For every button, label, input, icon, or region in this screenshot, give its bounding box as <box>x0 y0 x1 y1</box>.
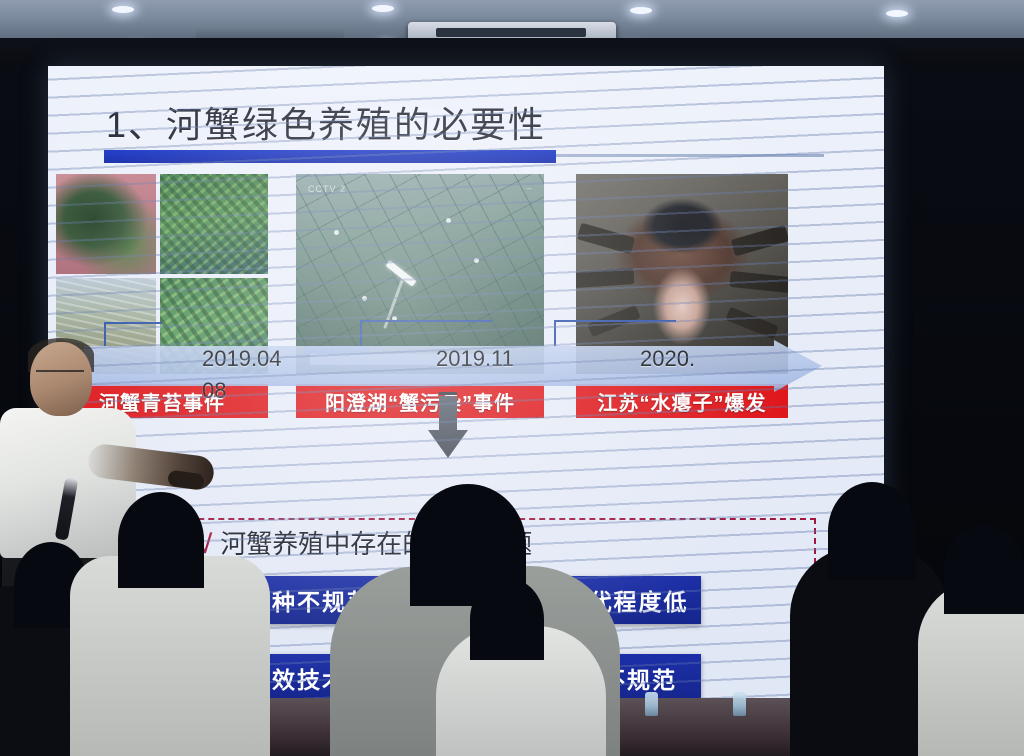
crab-leg <box>731 225 788 257</box>
audience-head <box>944 524 1024 614</box>
case-caption: 江苏“水瘪子”爆发 <box>576 384 788 418</box>
timeline-date-2: 2019.11 <box>436 346 514 372</box>
ceiling-light <box>886 10 908 17</box>
algae-photo-2 <box>160 174 268 274</box>
water-bottle <box>733 692 746 716</box>
audience-head <box>828 482 916 580</box>
water-speck <box>474 258 479 263</box>
title-accent-bar <box>104 150 556 163</box>
cctv-logo-text: CCTV 2 <box>308 184 346 194</box>
audience-head <box>470 578 544 660</box>
crab-leg <box>577 223 636 255</box>
water-speck <box>362 296 367 301</box>
ceiling-light <box>630 7 652 14</box>
screenshot-root: 1、河蟹绿色养殖的必要性 河蟹青苔事件 CCTV 2 ~ <box>0 0 1024 756</box>
glasses-icon <box>36 370 84 381</box>
case-caption: 阳澄湖“蟹污染”事件 <box>296 384 544 418</box>
crab-leg <box>725 307 778 339</box>
timeline-date-3: 2020. <box>640 346 695 372</box>
algae-photo-1 <box>56 174 156 274</box>
water-speck <box>446 218 451 223</box>
audience-head <box>118 492 204 588</box>
down-arrow-cap <box>439 392 457 395</box>
timeline-bracket <box>554 320 676 346</box>
water-bottle <box>645 692 658 716</box>
tv-watermark: ~ <box>526 184 532 195</box>
crab-leg <box>576 268 634 288</box>
ceiling-light <box>372 5 394 12</box>
water-speck <box>334 230 339 235</box>
ceiling-light <box>112 6 134 13</box>
page-title: 1、河蟹绿色养殖的必要性 <box>106 96 546 148</box>
timeline-bracket <box>360 320 492 346</box>
crab-leg <box>729 271 788 293</box>
